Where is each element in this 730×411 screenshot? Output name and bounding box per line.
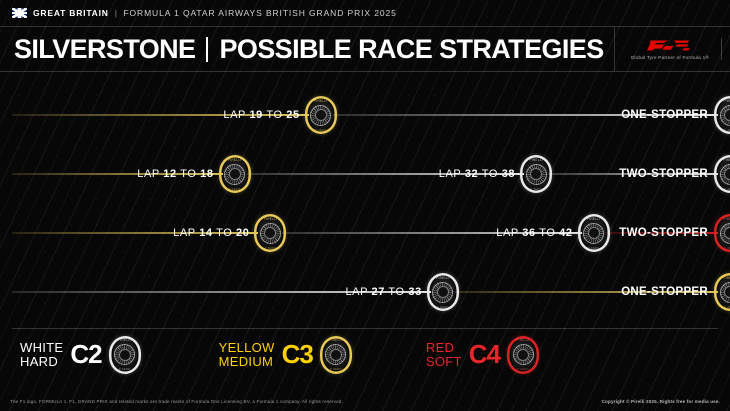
legend-compound-code: C2 — [70, 342, 101, 367]
lap-to: 18 — [200, 168, 213, 180]
lap-joiner: TO — [539, 227, 555, 239]
legend-item-soft: REDSOFTC4PIRELLIP ZERO — [426, 336, 539, 374]
tyre-medium-icon: PIRELLIP ZERO — [254, 214, 286, 252]
legal-disclaimer: The F1 logo, FORMULA 1, F1, GRAND PRIX a… — [10, 399, 343, 404]
strategy-row: PIRELLIP ZEROLAP 27 TO 33PIRELLIP ZEROON… — [0, 259, 730, 318]
legend-words: REDSOFT — [426, 341, 462, 368]
topbar-separator: | — [115, 8, 118, 18]
pit-window-label: LAP 12 TO 18 — [137, 168, 219, 180]
strategy-row: PIRELLIP ZEROLAP 12 TO 18PIRELLIP ZEROLA… — [0, 141, 730, 200]
legend-item-medium: YELLOWMEDIUMC3PIRELLIP ZERO — [219, 336, 352, 374]
stint-track: PIRELLIP ZEROLAP 19 TO 25PIRELLIP ZEROON… — [12, 114, 730, 116]
legend-compound-name: HARD — [20, 355, 63, 368]
pit-window-label: LAP 19 TO 25 — [223, 109, 305, 121]
stop-strategy-label: TWO-STOPPER — [619, 227, 714, 239]
lap-joiner: TO — [180, 168, 196, 180]
lap-to: 33 — [408, 286, 421, 298]
legend-color-name: RED — [426, 341, 462, 354]
page-title: SILVERSTONE POSSIBLE RACE STRATEGIES — [14, 36, 604, 63]
tyre-medium-icon: PIRELLIP ZERO — [714, 273, 730, 311]
copyright-notice: Copyright © Pirelli 2025. Rights free fo… — [602, 399, 720, 404]
stint-track: PIRELLIP ZEROLAP 12 TO 18PIRELLIP ZEROLA… — [12, 173, 730, 175]
legend-words: WHITEHARD — [20, 341, 63, 368]
f1-logo-icon — [647, 38, 693, 53]
title-circuit: SILVERSTONE — [14, 36, 195, 63]
lap-from: 27 — [372, 286, 385, 298]
lap-joiner: TO — [388, 286, 404, 298]
stint-track: PIRELLIP ZEROLAP 27 TO 33PIRELLIP ZEROON… — [12, 291, 730, 293]
legend-tyre-soft-icon: PIRELLIP ZERO — [507, 336, 539, 374]
logo-group: Global Tyre Partner of Formula 1® PIRELL… — [614, 27, 730, 71]
lap-from: 32 — [465, 168, 478, 180]
lap-from: 14 — [199, 227, 212, 239]
legend-words: YELLOWMEDIUM — [219, 341, 275, 368]
headline-bar: SILVERSTONE POSSIBLE RACE STRATEGIES Glo… — [0, 26, 730, 72]
lap-to: 38 — [502, 168, 515, 180]
compound-legend: WHITEHARDC2PIRELLIP ZEROYELLOWMEDIUMC3PI… — [12, 328, 718, 380]
lap-prefix: LAP — [345, 286, 367, 298]
tyre-medium-icon: PIRELLIP ZERO — [219, 155, 251, 193]
f1-logo-block: Global Tyre Partner of Formula 1® — [631, 38, 709, 60]
event-topbar: GREAT BRITAIN | FORMULA 1 QATAR AIRWAYS … — [0, 0, 730, 26]
tyre-hard-icon: PIRELLIP ZERO — [578, 214, 610, 252]
lap-joiner: TO — [266, 109, 282, 121]
lap-prefix: LAP — [137, 168, 159, 180]
legend-compound-name: SOFT — [426, 355, 462, 368]
tyre-hard-icon: PIRELLIP ZERO — [714, 155, 730, 193]
stop-strategy-label: ONE-STOPPER — [621, 286, 714, 298]
lap-prefix: LAP — [173, 227, 195, 239]
logo-divider — [721, 38, 722, 60]
lap-prefix: LAP — [496, 227, 518, 239]
legend-item-hard: WHITEHARDC2PIRELLIP ZERO — [20, 336, 141, 374]
stop-strategy-label: TWO-STOPPER — [619, 168, 714, 180]
lap-prefix: LAP — [439, 168, 461, 180]
tyre-hard-icon: PIRELLIP ZERO — [714, 96, 730, 134]
lap-to: 25 — [286, 109, 299, 121]
tyre-medium-icon: PIRELLIP ZERO — [305, 96, 337, 134]
stint-track: PIRELLIP ZEROLAP 14 TO 20PIRELLIP ZEROLA… — [12, 232, 730, 234]
union-jack-flag-icon — [12, 8, 27, 18]
lap-from: 19 — [249, 109, 262, 121]
tyre-soft-icon: PIRELLIP ZERO — [714, 214, 730, 252]
country-label: GREAT BRITAIN — [33, 8, 109, 18]
lap-prefix: LAP — [223, 109, 245, 121]
pit-window-label: LAP 36 TO 42 — [496, 227, 578, 239]
strategy-row: PIRELLIP ZEROLAP 14 TO 20PIRELLIP ZEROLA… — [0, 200, 730, 259]
legend-tyre-medium-icon: PIRELLIP ZERO — [320, 336, 352, 374]
race-name-label: FORMULA 1 QATAR AIRWAYS BRITISH GRAND PR… — [123, 8, 396, 18]
strategy-row: PIRELLIP ZEROLAP 19 TO 25PIRELLIP ZEROON… — [0, 82, 730, 141]
legend-tyre-hard-icon: PIRELLIP ZERO — [109, 336, 141, 374]
lap-to: 20 — [236, 227, 249, 239]
title-subject: POSSIBLE RACE STRATEGIES — [219, 36, 603, 63]
pit-window-label: LAP 32 TO 38 — [439, 168, 521, 180]
tyre-hard-icon: PIRELLIP ZERO — [520, 155, 552, 193]
pit-window-label: LAP 14 TO 20 — [173, 227, 255, 239]
legend-compound-name: MEDIUM — [219, 355, 275, 368]
legend-color-name: YELLOW — [219, 341, 275, 354]
legend-compound-code: C4 — [469, 342, 500, 367]
legend-compound-code: C3 — [282, 342, 313, 367]
infographic-root: GREAT BRITAIN | FORMULA 1 QATAR AIRWAYS … — [0, 0, 730, 411]
pit-window-label: LAP 27 TO 33 — [345, 286, 427, 298]
lap-from: 36 — [522, 227, 535, 239]
f1-tagline: Global Tyre Partner of Formula 1® — [631, 55, 709, 60]
legend-color-name: WHITE — [20, 341, 63, 354]
title-divider — [206, 37, 208, 62]
lap-joiner: TO — [482, 168, 498, 180]
lap-from: 12 — [163, 168, 176, 180]
footer-bar: The F1 logo, FORMULA 1, F1, GRAND PRIX a… — [0, 392, 730, 411]
strategy-rows: PIRELLIP ZEROLAP 19 TO 25PIRELLIP ZEROON… — [0, 72, 730, 318]
lap-to: 42 — [559, 227, 572, 239]
lap-joiner: TO — [216, 227, 232, 239]
stop-strategy-label: ONE-STOPPER — [621, 109, 714, 121]
tyre-hard-icon: PIRELLIP ZERO — [427, 273, 459, 311]
